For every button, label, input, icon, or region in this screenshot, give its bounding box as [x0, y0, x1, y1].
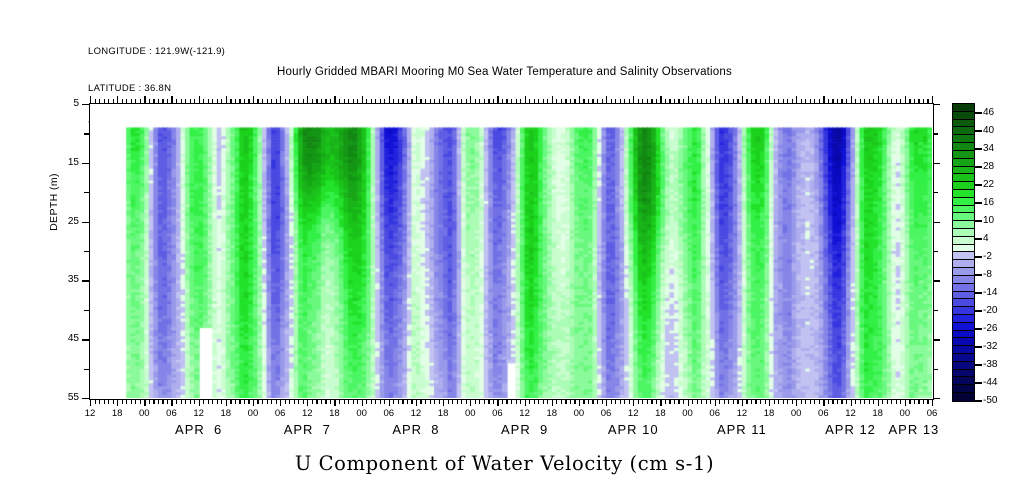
axis-tick [357, 399, 358, 404]
axis-tick [398, 99, 399, 104]
axis-tick [257, 399, 258, 404]
axis-tick [932, 399, 933, 406]
axis-tick [887, 399, 888, 404]
axis-tick [837, 99, 838, 104]
axis-tick [765, 99, 766, 104]
axis-tick [190, 399, 191, 404]
colorbar-band [953, 167, 974, 175]
axis-tick [891, 99, 892, 104]
axis-tick [380, 99, 381, 104]
axis-tick [493, 399, 494, 404]
colorbar-tick [975, 130, 982, 131]
axis-tick [285, 99, 286, 104]
axis-tick [221, 99, 222, 104]
x-axis-hour-label: 06 [917, 408, 947, 419]
axis-tick [452, 99, 453, 104]
axis-tick [665, 99, 666, 104]
axis-tick [561, 99, 562, 104]
axis-tick [837, 399, 838, 404]
axis-tick [529, 99, 530, 104]
colorbar-band [953, 229, 974, 237]
axis-tick [380, 399, 381, 404]
axis-tick [362, 96, 363, 103]
axis-tick [669, 399, 670, 404]
axis-tick [651, 399, 652, 404]
axis-tick [389, 96, 390, 103]
colorbar-band [953, 315, 974, 323]
axis-tick [656, 99, 657, 104]
axis-tick [140, 399, 141, 404]
axis-tick [511, 399, 512, 404]
axis-tick [534, 99, 535, 104]
axis-tick [719, 99, 720, 104]
axis-tick [280, 399, 281, 406]
axis-tick [905, 399, 906, 406]
axis-tick [933, 339, 940, 340]
colorbar-tick-label: -44 [983, 377, 997, 388]
x-axis-hour-label: 06 [265, 408, 295, 419]
axis-tick [755, 399, 756, 404]
longitude-text: LONGITUDE : 121.9W(-121.9) [88, 46, 225, 58]
axis-tick [710, 399, 711, 404]
colorbar-tick [975, 382, 982, 383]
axis-tick [294, 399, 295, 404]
latitude-text: LATITUDE : 36.8N [88, 83, 225, 95]
colorbar-band [953, 245, 974, 253]
y-axis-tick-label: 55 [41, 392, 79, 403]
axis-tick [520, 399, 521, 404]
axis-tick [181, 399, 182, 404]
colorbar-band [953, 135, 974, 143]
axis-tick [411, 99, 412, 104]
axis-tick [276, 399, 277, 404]
axis-tick [289, 399, 290, 404]
axis-tick [552, 96, 553, 103]
colorbar-band [953, 213, 974, 221]
axis-tick [176, 99, 177, 104]
colorbar-band [953, 323, 974, 331]
axis-tick [511, 99, 512, 104]
axis-tick [84, 192, 89, 193]
axis-tick [534, 399, 535, 404]
axis-tick [923, 399, 924, 404]
axis-tick [860, 399, 861, 404]
axis-tick [448, 99, 449, 104]
colorbar-band [953, 385, 974, 393]
colorbar-tick-label: -50 [983, 395, 997, 406]
axis-tick [783, 99, 784, 104]
axis-tick [737, 399, 738, 404]
axis-tick [651, 99, 652, 104]
axis-tick [683, 399, 684, 404]
axis-tick [583, 399, 584, 404]
axis-tick [851, 96, 852, 103]
axis-tick [701, 99, 702, 104]
axis-tick [914, 399, 915, 404]
axis-tick [316, 399, 317, 404]
axis-tick [384, 99, 385, 104]
axis-tick [135, 399, 136, 404]
axis-tick [678, 99, 679, 104]
axis-tick [194, 399, 195, 404]
colorbar-tick-label: 28 [983, 161, 994, 172]
colorbar-tick [975, 238, 982, 239]
axis-tick [933, 133, 938, 134]
axis-tick [144, 96, 145, 103]
axis-tick [158, 99, 159, 104]
axis-tick [298, 99, 299, 104]
colorbar-band [953, 338, 974, 346]
axis-tick [896, 99, 897, 104]
axis-tick [84, 369, 89, 370]
axis-tick [674, 399, 675, 404]
axis-tick [742, 96, 743, 103]
axis-tick [629, 399, 630, 404]
axis-tick [525, 399, 526, 406]
axis-tick [760, 99, 761, 104]
axis-tick [629, 99, 630, 104]
x-axis-hour-label: 18 [863, 408, 893, 419]
colorbar-tick [975, 292, 982, 293]
axis-tick [348, 399, 349, 404]
axis-tick [267, 99, 268, 104]
colorbar-tick-label: -20 [983, 305, 997, 316]
colorbar-band [953, 307, 974, 315]
axis-tick [185, 99, 186, 104]
axis-tick [199, 399, 200, 406]
colorbar-band [953, 221, 974, 229]
x-axis-hour-label: 12 [836, 408, 866, 419]
axis-tick [348, 99, 349, 104]
axis-tick [774, 399, 775, 404]
colorbar-tick [975, 112, 982, 113]
axis-tick [321, 99, 322, 104]
axis-tick [692, 99, 693, 104]
axis-tick [665, 399, 666, 404]
colorbar-band [953, 260, 974, 268]
axis-tick [434, 99, 435, 104]
axis-tick [84, 310, 89, 311]
axis-tick [339, 399, 340, 404]
x-axis-hour-label: 06 [482, 408, 512, 419]
axis-tick [466, 399, 467, 404]
axis-tick [624, 99, 625, 104]
axis-tick [230, 399, 231, 404]
axis-tick [339, 99, 340, 104]
axis-tick [792, 99, 793, 104]
axis-tick [882, 399, 883, 404]
x-axis-hour-label: 06 [374, 408, 404, 419]
axis-tick [783, 399, 784, 404]
axis-tick [900, 99, 901, 104]
axis-tick [398, 399, 399, 404]
axis-tick [819, 99, 820, 104]
axis-tick [778, 399, 779, 404]
colorbar [952, 103, 975, 402]
axis-tick [425, 99, 426, 104]
axis-tick [208, 99, 209, 104]
x-axis-day-label: APR 11 [692, 422, 792, 437]
axis-tick [933, 251, 938, 252]
axis-tick [122, 399, 123, 404]
axis-tick [810, 399, 811, 404]
axis-tick [316, 99, 317, 104]
axis-tick [171, 96, 172, 103]
axis-tick [344, 99, 345, 104]
axis-tick [312, 99, 313, 104]
plot-area [89, 103, 934, 400]
axis-tick [733, 99, 734, 104]
axis-tick [439, 99, 440, 104]
axis-tick [706, 99, 707, 104]
axis-tick [108, 99, 109, 104]
x-axis-hour-label: 12 [510, 408, 540, 419]
axis-tick [330, 399, 331, 404]
axis-tick [933, 398, 940, 399]
axis-tick [366, 399, 367, 404]
axis-tick [131, 99, 132, 104]
x-axis-day-label: APR 8 [366, 422, 466, 437]
colorbar-tick-label: -32 [983, 341, 997, 352]
axis-tick [221, 399, 222, 404]
axis-tick [420, 99, 421, 104]
axis-tick [407, 399, 408, 404]
axis-tick [678, 399, 679, 404]
colorbar-band [953, 206, 974, 214]
axis-tick [933, 280, 940, 281]
axis-tick [606, 399, 607, 406]
axis-tick [294, 99, 295, 104]
axis-tick [914, 99, 915, 104]
axis-tick [642, 399, 643, 404]
axis-tick [927, 399, 928, 404]
axis-tick [878, 96, 879, 103]
axis-tick [561, 399, 562, 404]
axis-tick [855, 399, 856, 404]
axis-tick [933, 104, 940, 105]
axis-tick [122, 99, 123, 104]
axis-tick [525, 96, 526, 103]
axis-tick [126, 399, 127, 404]
axis-tick [230, 99, 231, 104]
colorbar-band [953, 354, 974, 362]
axis-tick [864, 99, 865, 104]
axis-tick [805, 99, 806, 104]
axis-tick [135, 99, 136, 104]
axis-tick [307, 96, 308, 103]
axis-tick [325, 399, 326, 404]
axis-tick [226, 96, 227, 103]
axis-tick [402, 399, 403, 404]
axis-tick [751, 99, 752, 104]
colorbar-band [953, 292, 974, 300]
axis-tick [203, 399, 204, 404]
axis-tick [371, 99, 372, 104]
x-axis-hour-label: 18 [319, 408, 349, 419]
x-axis-hour-label: 18 [645, 408, 675, 419]
axis-tick [153, 399, 154, 404]
axis-tick [556, 399, 557, 404]
colorbar-tick-label: 40 [983, 125, 994, 136]
axis-tick [647, 99, 648, 104]
axis-tick [688, 96, 689, 103]
axis-tick [570, 399, 571, 404]
axis-tick [117, 399, 118, 406]
axis-tick [520, 99, 521, 104]
axis-tick [99, 99, 100, 104]
axis-tick [82, 339, 89, 340]
axis-tick [371, 399, 372, 404]
axis-tick [760, 399, 761, 404]
axis-tick [701, 399, 702, 404]
x-axis-hour-label: 06 [700, 408, 730, 419]
axis-tick [683, 99, 684, 104]
axis-tick [353, 99, 354, 104]
x-axis-hour-label: 00 [347, 408, 377, 419]
axis-tick [810, 99, 811, 104]
axis-tick [267, 399, 268, 404]
axis-tick [923, 99, 924, 104]
axis-tick [253, 399, 254, 406]
axis-tick [932, 96, 933, 103]
axis-tick [882, 99, 883, 104]
axis-tick [855, 99, 856, 104]
colorbar-tick [975, 256, 982, 257]
axis-tick [298, 399, 299, 404]
colorbar-tick [975, 310, 982, 311]
y-axis-tick-label: 35 [41, 274, 79, 285]
colorbar-band [953, 284, 974, 292]
axis-tick [475, 99, 476, 104]
axis-tick [909, 99, 910, 104]
axis-tick [918, 99, 919, 104]
axis-tick [787, 399, 788, 404]
axis-tick [307, 399, 308, 406]
axis-tick [140, 99, 141, 104]
axis-tick [497, 399, 498, 406]
x-axis-hour-label: 18 [537, 408, 567, 419]
axis-tick [82, 222, 89, 223]
axis-tick [384, 399, 385, 404]
axis-tick [878, 399, 879, 406]
axis-tick [556, 99, 557, 104]
axis-tick [579, 96, 580, 103]
colorbar-band [953, 127, 974, 135]
axis-tick [896, 399, 897, 404]
axis-tick [126, 99, 127, 104]
colorbar-tick-label: -2 [983, 251, 992, 262]
axis-tick [751, 399, 752, 404]
axis-tick [660, 96, 661, 103]
axis-tick [574, 399, 575, 404]
axis-tick [724, 399, 725, 404]
axis-tick [674, 99, 675, 104]
axis-tick [737, 99, 738, 104]
axis-tick [479, 399, 480, 404]
axis-tick [832, 399, 833, 404]
axis-tick [656, 399, 657, 404]
axis-tick [285, 399, 286, 404]
axis-tick [873, 399, 874, 404]
axis-tick [565, 99, 566, 104]
axis-tick [479, 99, 480, 104]
colorbar-band [953, 143, 974, 151]
axis-tick [375, 399, 376, 404]
axis-tick [592, 99, 593, 104]
axis-tick [602, 399, 603, 404]
axis-tick [416, 399, 417, 406]
axis-tick [167, 399, 168, 404]
colorbar-band [953, 331, 974, 339]
axis-tick [257, 99, 258, 104]
colorbar-tick [975, 184, 982, 185]
axis-tick [176, 399, 177, 404]
colorbar-tick [975, 346, 982, 347]
axis-tick [769, 399, 770, 406]
x-axis-day-label: APR 7 [257, 422, 357, 437]
axis-tick [547, 99, 548, 104]
x-axis-hour-label: 00 [129, 408, 159, 419]
axis-tick [117, 96, 118, 103]
axis-tick [235, 399, 236, 404]
axis-tick [84, 133, 89, 134]
axis-tick [841, 399, 842, 404]
axis-tick [755, 99, 756, 104]
axis-tick [162, 99, 163, 104]
axis-tick [366, 99, 367, 104]
axis-tick [697, 399, 698, 404]
axis-tick [239, 99, 240, 104]
axis-tick [692, 399, 693, 404]
axis-tick [90, 96, 91, 103]
colorbar-band [953, 174, 974, 182]
axis-tick [217, 99, 218, 104]
colorbar-tick-label: 46 [983, 107, 994, 118]
axis-tick [353, 399, 354, 404]
colorbar-tick-label: -38 [983, 359, 997, 370]
axis-tick [778, 99, 779, 104]
axis-tick [588, 99, 589, 104]
axis-tick [715, 96, 716, 103]
axis-tick [452, 399, 453, 404]
x-axis-hour-label: 00 [890, 408, 920, 419]
axis-tick [624, 399, 625, 404]
axis-tick [416, 96, 417, 103]
axis-tick [565, 399, 566, 404]
axis-tick [647, 399, 648, 404]
x-axis-hour-label: 12 [184, 408, 214, 419]
y-axis-tick-label: 45 [41, 333, 79, 344]
x-axis-hour-label: 12 [401, 408, 431, 419]
axis-tick [167, 99, 168, 104]
axis-tick [774, 99, 775, 104]
colorbar-band [953, 104, 974, 112]
axis-tick [638, 399, 639, 404]
axis-tick [289, 99, 290, 104]
colorbar-tick [975, 220, 982, 221]
x-axis-day-label: APR 10 [583, 422, 683, 437]
axis-tick [547, 399, 548, 404]
axis-tick [801, 99, 802, 104]
x-axis-hour-label: 06 [156, 408, 186, 419]
colorbar-band [953, 362, 974, 370]
axis-tick [769, 96, 770, 103]
axis-tick [828, 99, 829, 104]
colorbar-tick-label: 4 [983, 233, 989, 244]
colorbar-band [953, 237, 974, 245]
colorbar-band [953, 346, 974, 354]
colorbar-band [953, 268, 974, 276]
